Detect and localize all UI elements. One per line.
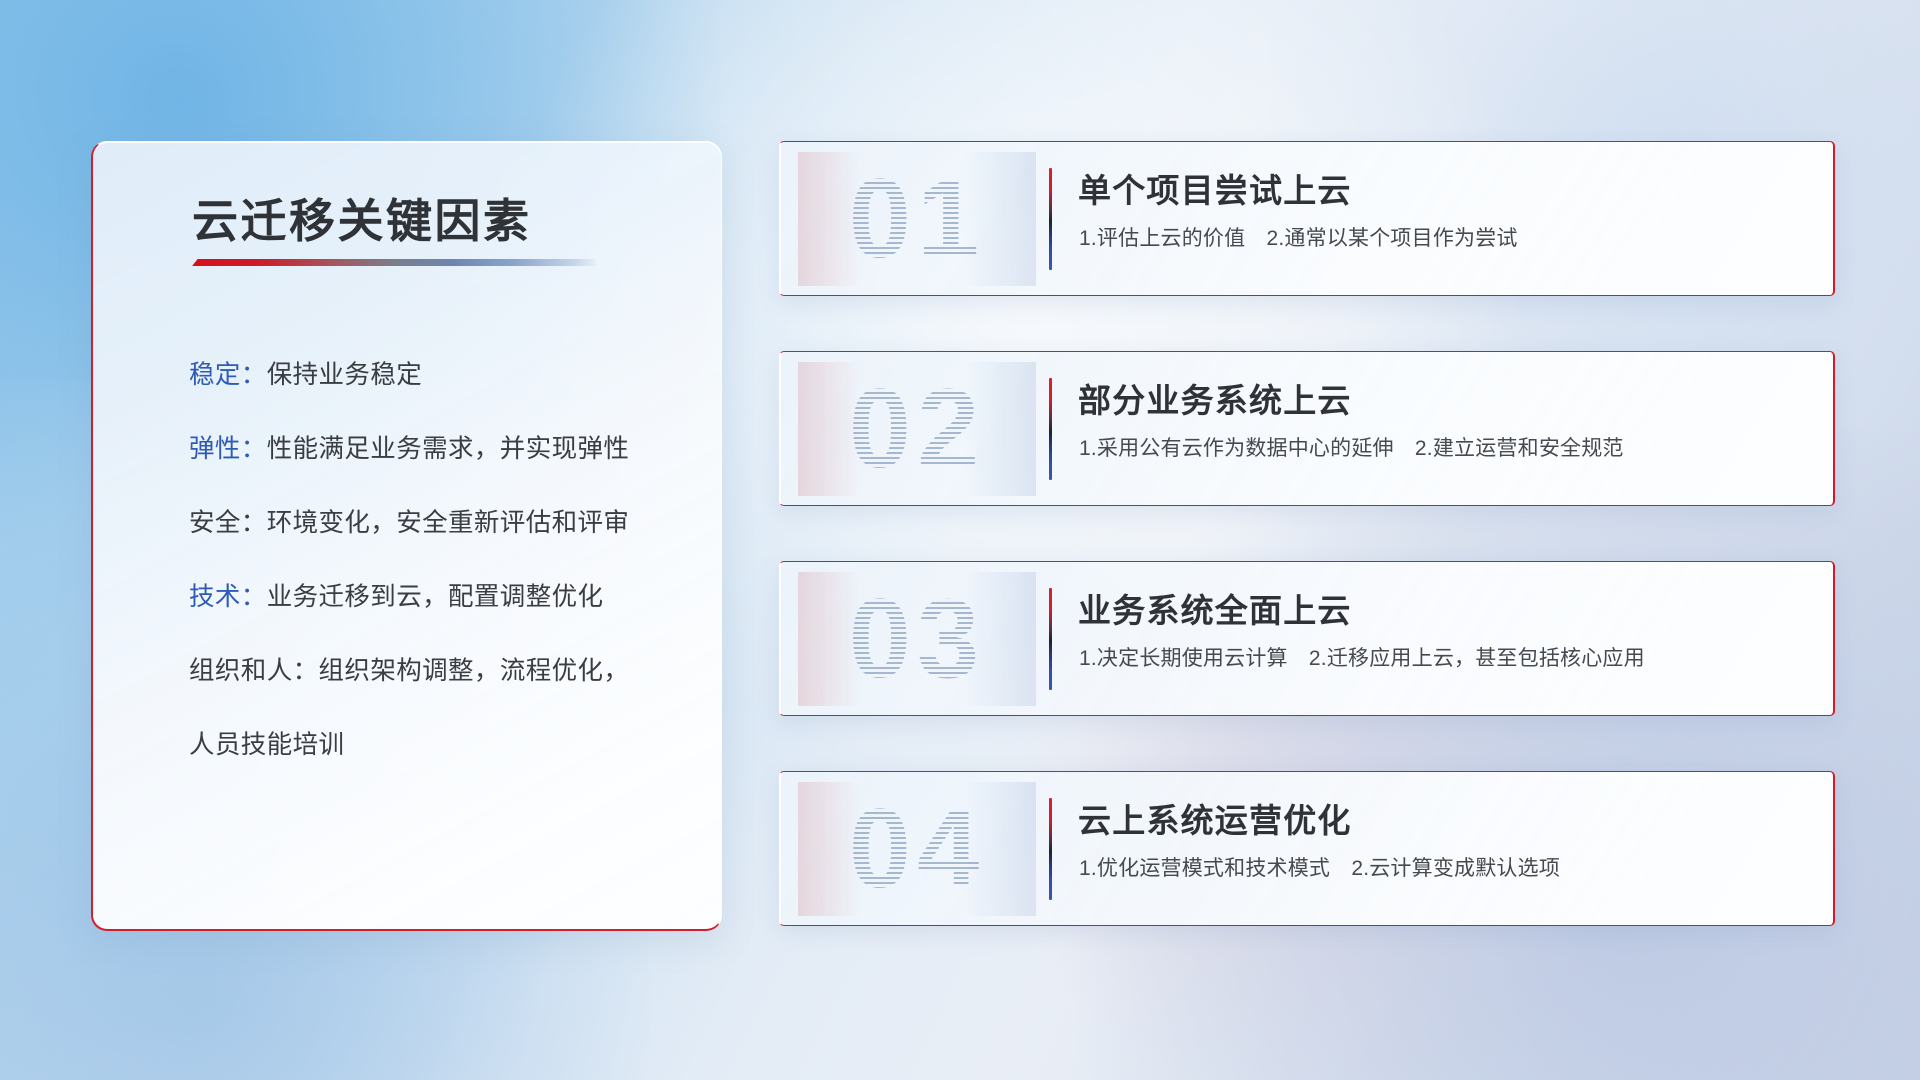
stage-description-01: 1.评估上云的价值 2.通常以某个项目作为尝试: [1079, 222, 1518, 252]
key-factor-text: 组织架构调整，流程优化，: [319, 657, 630, 685]
key-factors-panel: 云迁移关键因素 稳定：保持业务稳定弹性：性能满足业务需求，并实现弹性安全：环境变…: [91, 141, 722, 931]
stage-number-02: 02: [798, 362, 1036, 496]
key-factor-label: 安全：: [189, 509, 267, 537]
stage-card-02[interactable]: 02 部分业务系统上云 1.采用公有云作为数据中心的延伸 2.建立运营和安全规范: [779, 351, 1835, 506]
key-factors-list: 稳定：保持业务稳定弹性：性能满足业务需求，并实现弹性安全：环境变化，安全重新评估…: [189, 338, 697, 782]
stage-divider-bar-02: [1049, 378, 1052, 480]
key-factor-text: 人员技能培训: [189, 731, 344, 759]
key-factor-text: 性能满足业务需求，并实现弹性: [267, 435, 630, 463]
key-factor-text: 环境变化，安全重新评估和评审: [267, 509, 630, 537]
stage-number-03: 03: [798, 572, 1036, 706]
stage-title-02: 部分业务系统上云: [1078, 374, 1352, 422]
stage-number-04: 04: [798, 782, 1036, 916]
stage-description-04: 1.优化运营模式和技术模式 2.云计算变成默认选项: [1079, 852, 1560, 882]
stage-divider-bar-01: [1049, 168, 1052, 270]
key-factor-text: 保持业务稳定: [267, 361, 422, 389]
stage-title-04: 云上系统运营优化: [1078, 794, 1352, 842]
stage-number-01: 01: [798, 152, 1036, 286]
stage-divider-bar-03: [1049, 588, 1052, 690]
key-factor-label: 弹性：: [189, 435, 267, 463]
panel-title-underline: [192, 259, 596, 266]
background-glow-bottom-right: [1020, 430, 1920, 1080]
key-factor-label: 技术：: [189, 583, 267, 611]
stage-description-03: 1.决定长期使用云计算 2.迁移应用上云，甚至包括核心应用: [1079, 642, 1645, 672]
key-factor-row: 人员技能培训: [189, 708, 697, 782]
stage-card-04[interactable]: 04 云上系统运营优化 1.优化运营模式和技术模式 2.云计算变成默认选项: [779, 771, 1835, 926]
stage-title-01: 单个项目尝试上云: [1078, 164, 1352, 212]
stage-card-01[interactable]: 01 单个项目尝试上云 1.评估上云的价值 2.通常以某个项目作为尝试: [779, 141, 1835, 296]
key-factor-row: 组织和人：组织架构调整，流程优化，: [189, 634, 697, 708]
key-factor-row: 安全：环境变化，安全重新评估和评审: [189, 486, 697, 560]
stage-divider-bar-04: [1049, 798, 1052, 900]
key-factor-row: 技术：业务迁移到云，配置调整优化: [189, 560, 697, 634]
key-factor-label: 稳定：: [189, 361, 267, 389]
key-factor-row: 弹性：性能满足业务需求，并实现弹性: [189, 412, 697, 486]
key-factor-label: 组织和人：: [189, 657, 319, 685]
stage-title-03: 业务系统全面上云: [1078, 584, 1352, 632]
stage-description-02: 1.采用公有云作为数据中心的延伸 2.建立运营和安全规范: [1079, 432, 1624, 462]
stage-card-03[interactable]: 03 业务系统全面上云 1.决定长期使用云计算 2.迁移应用上云，甚至包括核心应…: [779, 561, 1835, 716]
panel-title: 云迁移关键因素: [192, 185, 532, 251]
key-factor-row: 稳定：保持业务稳定: [189, 338, 697, 412]
key-factor-text: 业务迁移到云，配置调整优化: [267, 583, 604, 611]
